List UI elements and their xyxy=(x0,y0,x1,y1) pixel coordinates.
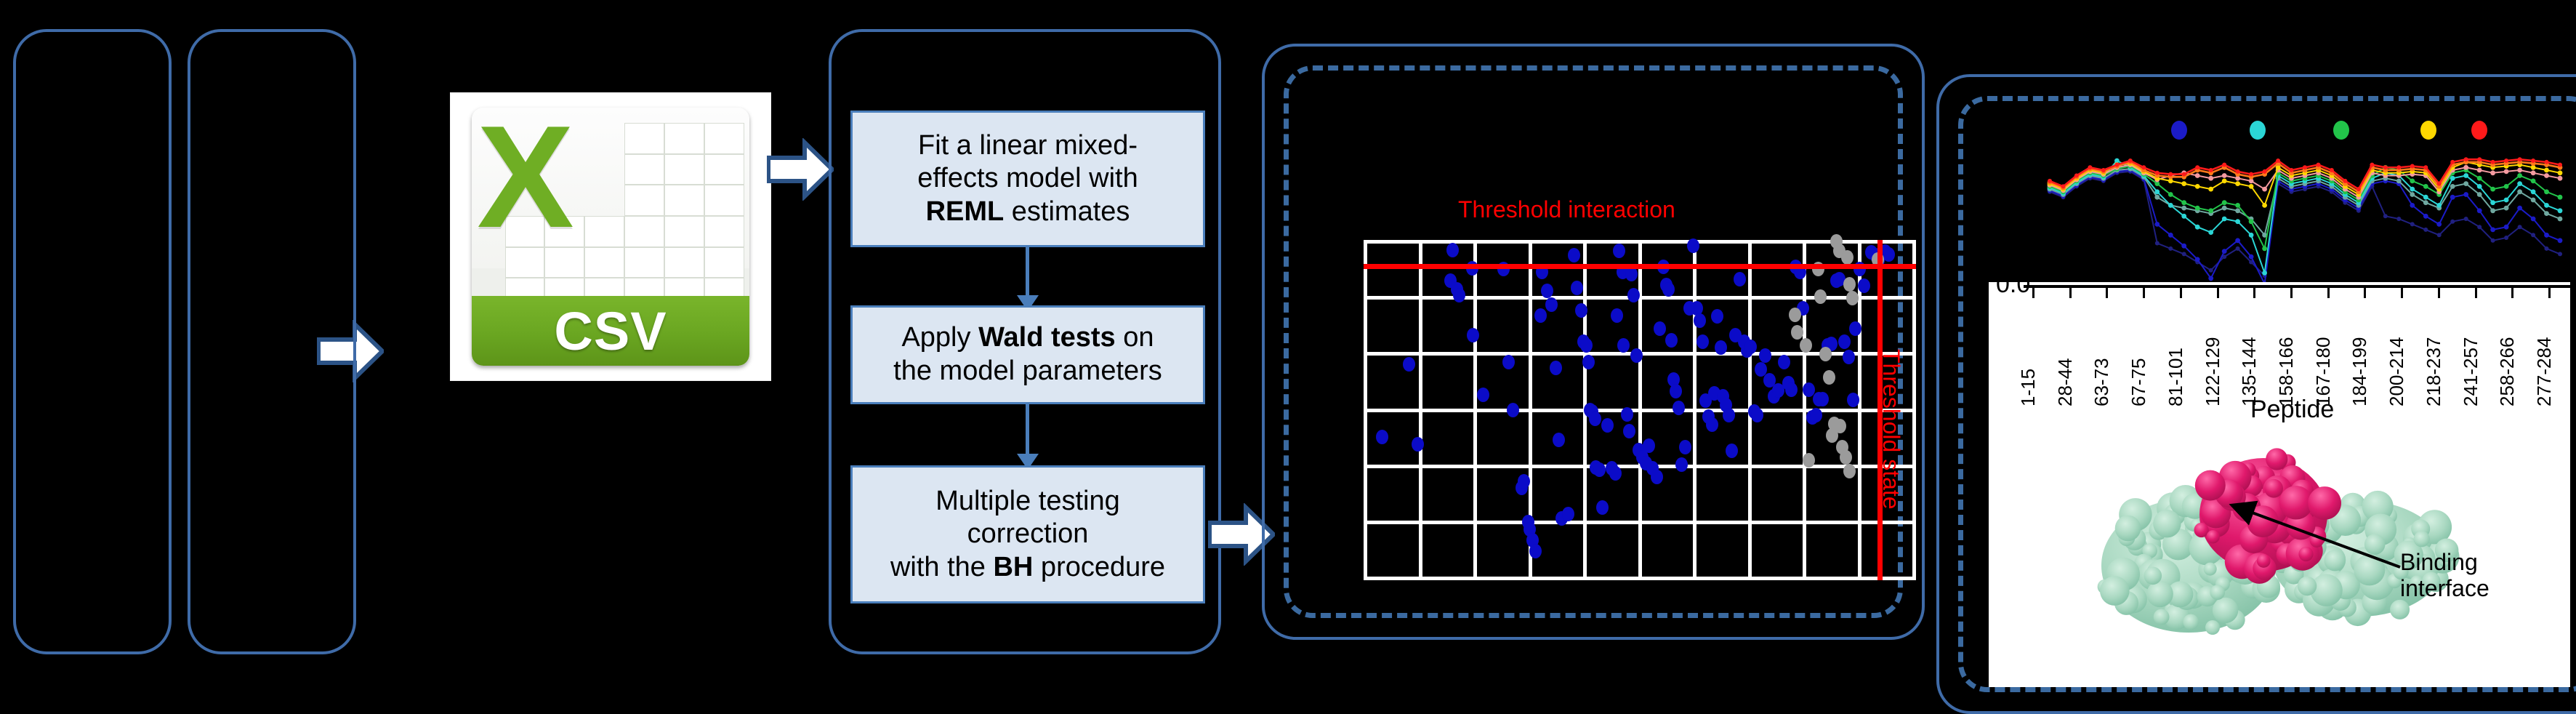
scatter-point-nonsignificant xyxy=(1819,347,1832,361)
peptide-series-marker xyxy=(2235,181,2240,186)
peptide-series-marker xyxy=(2235,203,2240,208)
peptide-series-marker xyxy=(2168,246,2173,251)
peptide-axis-tick xyxy=(2401,288,2403,298)
scatter-gridline-vertical xyxy=(1693,240,1696,580)
csv-grid-cell xyxy=(664,185,704,216)
csv-grid-cell xyxy=(624,185,664,216)
peptide-series-marker xyxy=(2195,257,2200,262)
peptide-series-marker xyxy=(2236,246,2240,251)
peptide-series-marker xyxy=(2262,246,2267,252)
scatter-point-significant xyxy=(1403,357,1415,372)
peptide-series-marker xyxy=(2410,192,2415,197)
protein-surface-blob xyxy=(2205,620,2220,635)
peptide-series-marker xyxy=(2195,225,2200,230)
csv-grid-cell xyxy=(664,154,704,185)
scatter-plot-canvas xyxy=(1364,240,1916,580)
peptide-series-marker xyxy=(2450,184,2455,189)
scatter-point-significant xyxy=(1477,388,1489,402)
scatter-gridline-vertical xyxy=(1912,240,1916,580)
scatter-point-significant xyxy=(1589,412,1601,426)
scatter-point-significant xyxy=(1734,272,1746,286)
protein-surface-blob xyxy=(2154,609,2170,625)
scatter-point-significant xyxy=(1654,321,1666,336)
peptide-series-marker xyxy=(2450,195,2455,200)
peptide-series-marker xyxy=(2222,179,2227,184)
peptide-series-marker xyxy=(2101,168,2106,172)
scatter-point-nonsignificant xyxy=(1841,250,1853,265)
peptide-series-marker xyxy=(2423,228,2428,232)
peptide-axis-tick xyxy=(2106,288,2108,298)
peptide-series-marker xyxy=(2182,172,2186,177)
protein-surface-blob xyxy=(2206,530,2219,543)
peptide-series-marker xyxy=(2463,173,2468,178)
peptide-series-marker xyxy=(2343,179,2347,183)
peptide-series-marker xyxy=(2410,222,2415,226)
peptide-series-marker xyxy=(2208,187,2213,192)
peptide-series-marker xyxy=(2437,182,2442,186)
peptide-series-marker xyxy=(2155,241,2160,246)
scatter-point-nonsignificant xyxy=(1791,325,1803,340)
scatter-point-significant xyxy=(1580,338,1593,353)
peptide-axis-tick xyxy=(2217,288,2219,298)
peptide-series-marker xyxy=(2168,192,2173,197)
protein-surface-blob xyxy=(2264,479,2283,498)
peptide-series-marker xyxy=(2490,208,2495,213)
peptide-series-marker xyxy=(2154,195,2160,200)
scatter-point-significant xyxy=(1810,408,1822,422)
peptide-series-marker xyxy=(2423,165,2428,169)
peptide-series-marker xyxy=(2504,206,2509,211)
peptide-series-marker xyxy=(2544,203,2549,208)
peptide-series-marker xyxy=(2290,168,2294,172)
peptide-tick-label: 122-129 xyxy=(2202,337,2224,406)
csv-file-icon: X CSV xyxy=(451,93,770,380)
peptide-series-marker xyxy=(2168,172,2173,177)
peptide-series-marker xyxy=(2168,233,2173,238)
flowchart-step-bh-correction[interactable]: Multiple testingcorrectionwith the BH pr… xyxy=(850,465,1205,603)
scatter-point-significant xyxy=(1665,333,1678,348)
peptide-series-marker xyxy=(2491,238,2495,243)
peptide-series-marker xyxy=(2195,206,2200,211)
scatter-point-significant xyxy=(1453,288,1465,302)
peptide-series-marker xyxy=(2558,163,2562,167)
scatter-point-significant xyxy=(1611,308,1623,323)
peptide-series-marker xyxy=(2504,236,2508,240)
peptide-series-marker xyxy=(2396,179,2402,184)
scatter-point-significant xyxy=(1778,355,1790,369)
peptide-axis-tick xyxy=(2253,288,2255,298)
peptide-series-marker xyxy=(2154,189,2160,194)
scatter-point-significant xyxy=(1617,338,1630,353)
legend-dot-2 xyxy=(2250,121,2266,140)
peptide-series-marker xyxy=(2208,276,2213,281)
scatter-point-nonsignificant xyxy=(1843,277,1856,292)
protein-surface-blob xyxy=(2100,576,2130,606)
peptide-series-marker xyxy=(2410,164,2415,169)
scatter-point-significant xyxy=(1593,462,1606,477)
csv-panel xyxy=(188,29,356,654)
csv-grid-cell xyxy=(704,247,744,278)
peptide-series-marker xyxy=(2249,219,2254,224)
csv-grid-cell xyxy=(624,247,664,278)
csv-grid-cell xyxy=(704,123,744,154)
peptide-series-marker xyxy=(2208,208,2213,213)
scatter-point-significant xyxy=(1883,247,1895,262)
scatter-point-significant xyxy=(1562,507,1574,521)
peptide-series-marker xyxy=(2181,244,2186,249)
peptide-series-marker xyxy=(2181,214,2186,219)
peptide-series-marker xyxy=(2317,163,2321,167)
scatter-point-nonsignificant xyxy=(1834,419,1846,433)
peptide-series-marker xyxy=(2517,206,2522,211)
peptide-series-marker xyxy=(2531,179,2536,184)
peptide-tick-label: 67-75 xyxy=(2128,358,2150,407)
scatter-point-significant xyxy=(1507,403,1519,417)
binding-interface-label-line1: Binding xyxy=(2400,550,2490,576)
flow-arrow-2 xyxy=(767,138,834,201)
peptide-axis-tick xyxy=(2548,288,2551,298)
scatter-point-significant xyxy=(1601,418,1614,433)
peptide-series-marker xyxy=(2477,176,2482,181)
scatter-point-significant xyxy=(1785,382,1798,397)
protein-surface-blob xyxy=(2115,516,2141,542)
scatter-point-significant xyxy=(1723,408,1735,422)
peptide-series-marker xyxy=(2155,171,2160,175)
peptide-series-marker xyxy=(2356,187,2361,191)
peptide-series-marker xyxy=(2195,173,2200,178)
protein-surface-blob xyxy=(2266,448,2287,470)
scatter-point-significant xyxy=(1625,267,1638,281)
peptide-series-marker xyxy=(2436,203,2442,208)
peptide-series-marker xyxy=(2209,168,2213,172)
legend-dot-1 xyxy=(2171,121,2187,140)
scatter-point-significant xyxy=(1849,321,1861,336)
protein-surface-blob xyxy=(2390,600,2410,619)
scatter-point-significant xyxy=(1623,424,1635,438)
scatter-point-significant xyxy=(1847,393,1859,407)
csv-grid-cell xyxy=(704,185,744,216)
peptide-series-marker xyxy=(2410,203,2415,208)
peptide-series-marker xyxy=(2531,198,2536,203)
peptide-series-marker xyxy=(2262,270,2267,276)
scatter-point-significant xyxy=(1843,350,1855,364)
peptide-series-marker xyxy=(2504,184,2509,189)
scatter-point-significant xyxy=(1529,544,1542,558)
peptide-series-marker xyxy=(2088,165,2092,169)
scatter-point-significant xyxy=(1726,444,1738,458)
protein-surface-blob xyxy=(2146,581,2173,607)
scatter-point-significant xyxy=(1696,334,1709,349)
scatter-point-significant xyxy=(1673,401,1685,415)
scatter-point-significant xyxy=(1376,430,1388,444)
peptide-series-marker xyxy=(2235,238,2240,243)
peptide-tick-label: 1-15 xyxy=(2017,369,2040,406)
peptide-series-marker xyxy=(2477,184,2482,189)
peptide-series-marker xyxy=(2490,187,2495,192)
peptide-axis-tick xyxy=(2143,288,2145,298)
peptide-series-marker xyxy=(2235,219,2240,224)
peptide-series-marker xyxy=(2544,233,2549,238)
peptide-series-marker xyxy=(2330,168,2334,172)
peptide-series-marker xyxy=(2074,174,2079,178)
peptide-series-marker xyxy=(2262,187,2267,192)
peptide-series-marker xyxy=(2558,176,2563,181)
scatter-point-significant xyxy=(1446,243,1459,257)
scatter-point-significant xyxy=(1759,348,1771,363)
peptide-line-chart-svg xyxy=(2021,145,2573,291)
peptide-series-marker xyxy=(2423,214,2428,219)
peptide-series-marker xyxy=(2262,203,2267,208)
scatter-point-significant xyxy=(1534,308,1547,323)
peptide-series-marker xyxy=(2463,181,2468,186)
peptide-series-marker xyxy=(2249,233,2254,238)
scatter-point-significant xyxy=(1643,438,1655,453)
binding-interface-arrow xyxy=(2220,497,2409,577)
csv-grid-cell xyxy=(704,154,744,185)
protein-surface-blob xyxy=(2298,577,2317,595)
legend-dot-5 xyxy=(2471,121,2487,140)
scatter-point-significant xyxy=(1518,474,1530,489)
peptide-axis-tick xyxy=(2180,288,2182,298)
scatter-point-nonsignificant xyxy=(1846,291,1859,305)
peptide-tick-label: 63-73 xyxy=(2090,358,2113,407)
peptide-series-marker xyxy=(2464,217,2468,221)
peptide-series-marker xyxy=(2531,159,2535,163)
scatter-point-nonsignificant xyxy=(1823,370,1835,385)
scatter-point-significant xyxy=(1582,355,1595,369)
peptide-series-marker xyxy=(2128,159,2133,163)
threshold-interaction-line xyxy=(1364,264,1916,269)
peptide-tick-label: 81-101 xyxy=(2165,348,2187,406)
peptide-series-marker xyxy=(2544,173,2549,178)
scatter-gridline-vertical xyxy=(1803,240,1806,580)
input-panel xyxy=(13,29,172,654)
peptide-series-marker xyxy=(2222,173,2227,178)
peptide-series-marker xyxy=(2263,169,2267,174)
peptide-series-marker xyxy=(2544,211,2549,216)
scatter-point-significant xyxy=(1679,440,1691,454)
peptide-tick-label: 200-214 xyxy=(2386,337,2408,406)
peptide-tick-label: 28-44 xyxy=(2054,358,2077,407)
peptide-series-marker xyxy=(2222,163,2226,167)
scatter-point-nonsignificant xyxy=(1843,464,1856,478)
peptide-axis-tick xyxy=(2327,288,2330,298)
peptide-series-marker xyxy=(2463,192,2468,197)
peptide-y-axis-first-tick: 0.0 xyxy=(1996,270,2030,299)
binding-interface-label-line2: interface xyxy=(2400,576,2490,602)
peptide-series-marker xyxy=(2154,222,2160,227)
peptide-series-marker xyxy=(2477,168,2482,173)
peptide-series-marker xyxy=(2490,170,2495,175)
scatter-point-significant xyxy=(1751,408,1763,422)
scatter-point-significant xyxy=(1502,355,1515,369)
excel-x-glyph: X xyxy=(477,118,605,278)
peptide-series-marker xyxy=(2410,187,2415,192)
csv-grid-cell xyxy=(704,216,744,247)
peptide-series-marker xyxy=(2423,200,2428,205)
peptide-series-marker xyxy=(2545,160,2549,164)
peptide-series-marker xyxy=(2436,222,2442,227)
peptide-series-marker xyxy=(2544,189,2549,194)
peptide-series-marker xyxy=(2450,160,2455,164)
peptide-series-marker xyxy=(2048,179,2052,183)
protein-surface-blob xyxy=(2210,585,2225,600)
peptide-series-marker xyxy=(2531,189,2536,194)
protein-surface-blob xyxy=(2414,531,2430,547)
peptide-series-marker xyxy=(2383,214,2388,218)
binding-interface-label: Binding interface xyxy=(2400,550,2490,602)
scatter-point-significant xyxy=(1706,417,1718,432)
peptide-series-marker xyxy=(2531,170,2536,175)
flowchart-step-fit-model-text: Fit a linear mixed-effects model withREM… xyxy=(917,129,1138,229)
peptide-series-marker xyxy=(2490,200,2495,205)
scatter-point-significant xyxy=(1571,281,1583,295)
scatter-point-significant xyxy=(1651,470,1663,484)
csv-grid-cell xyxy=(664,216,704,247)
peptide-series-marker xyxy=(2182,252,2186,256)
peptide-series-marker xyxy=(2423,195,2428,200)
scatter-point-significant xyxy=(1627,288,1640,302)
peptide-series-marker xyxy=(2235,208,2240,213)
peptide-series-marker xyxy=(2450,220,2455,224)
scatter-point-significant xyxy=(1621,407,1633,422)
peptide-series-marker xyxy=(2410,179,2415,184)
scatter-point-nonsignificant xyxy=(1840,450,1852,465)
peptide-series-marker xyxy=(2545,246,2549,251)
peptide-series-marker xyxy=(2558,208,2563,213)
csv-grid-cell xyxy=(664,247,704,278)
scatter-point-significant xyxy=(1568,248,1580,262)
scatter-point-significant xyxy=(1613,244,1625,258)
scatter-point-significant xyxy=(1711,309,1723,324)
peptide-series-marker xyxy=(2517,173,2522,178)
peptide-series-marker xyxy=(2518,157,2522,161)
protein-surface-blob xyxy=(2204,563,2217,576)
legend-dot-3 xyxy=(2333,121,2349,140)
peptide-axis-tick xyxy=(2290,288,2293,298)
peptide-series-marker xyxy=(2195,184,2200,189)
scatter-point-significant xyxy=(1596,500,1609,515)
csv-label: CSV xyxy=(554,300,667,362)
peptide-series-marker xyxy=(2396,165,2401,169)
peptide-series-marker xyxy=(2544,168,2549,173)
peptide-series-marker xyxy=(2168,203,2173,208)
peptide-series-marker xyxy=(2504,225,2509,230)
csv-grid-cell xyxy=(624,216,664,247)
threshold-state-label: Threshold state xyxy=(1877,349,1904,510)
flowchart-step-wald-tests-text: Apply Wald tests onthe model parameters xyxy=(893,321,1162,388)
scatter-point-significant xyxy=(1630,348,1643,363)
scatter-plot-area[interactable] xyxy=(1364,240,1916,580)
peptide-axis-tick xyxy=(2511,288,2513,298)
scatter-point-nonsignificant xyxy=(1803,453,1815,468)
csv-grid-cell xyxy=(624,154,664,185)
peptide-series-marker xyxy=(2558,170,2563,175)
legend-dot-4 xyxy=(2420,121,2436,140)
peptide-series-marker xyxy=(2141,165,2146,169)
peptide-series-marker xyxy=(2477,225,2482,229)
protein-surface-blob xyxy=(2144,567,2162,585)
peptide-series-marker xyxy=(2517,168,2522,173)
peptide-series-marker xyxy=(2396,217,2401,221)
scatter-gridline-vertical xyxy=(1473,240,1477,580)
peptide-series-marker xyxy=(2222,200,2227,205)
peptide-series-marker xyxy=(2209,268,2213,273)
peptide-series-marker xyxy=(2518,225,2522,229)
scatter-gridline-vertical xyxy=(1364,240,1367,580)
peptide-series-marker xyxy=(2195,165,2199,169)
peptide-series-marker xyxy=(2558,238,2563,243)
csv-grid-cell xyxy=(664,123,704,154)
protein-surface-blob xyxy=(2213,598,2238,623)
flow-connector-1 xyxy=(1026,247,1029,297)
scatter-point-significant xyxy=(1545,297,1558,312)
scatter-point-significant xyxy=(1467,328,1479,342)
peptide-series-marker xyxy=(2464,157,2468,161)
scatter-point-significant xyxy=(1550,361,1562,375)
peptide-series-marker xyxy=(2249,172,2253,177)
scatter-point-significant xyxy=(1715,340,1727,355)
peptide-series-marker xyxy=(2558,195,2563,200)
flow-connector-2 xyxy=(1026,404,1029,455)
protein-surface-blob xyxy=(2183,614,2199,630)
peptide-series-marker xyxy=(2504,198,2509,203)
peptide-series-marker xyxy=(2222,217,2227,222)
peptide-series-marker xyxy=(2249,184,2254,189)
csv-band: CSV xyxy=(472,296,750,366)
scatter-gridline-vertical xyxy=(1419,240,1422,580)
scatter-point-significant xyxy=(1858,278,1870,293)
protein-surface-blob xyxy=(2153,510,2181,537)
peptide-axis-tick xyxy=(2069,288,2072,298)
peptide-series-marker xyxy=(2558,217,2563,222)
peptide-series-marker xyxy=(2531,233,2535,237)
protein-surface-blob xyxy=(2195,470,2226,501)
peptide-line-chart[interactable] xyxy=(2021,145,2573,291)
scatter-point-significant xyxy=(1609,466,1622,481)
peptide-series-marker xyxy=(2504,169,2509,175)
peptide-series-marker xyxy=(2061,184,2066,188)
scatter-point-significant xyxy=(1553,433,1565,447)
peptide-series-marker xyxy=(2463,165,2468,170)
peptide-series-marker xyxy=(2477,208,2482,213)
peptide-axis-tick xyxy=(2032,288,2034,298)
peptide-tick-label: 241-257 xyxy=(2460,337,2482,406)
peptide-series-marker xyxy=(2114,163,2119,167)
peptide-axis-tick xyxy=(2438,288,2440,298)
peptide-series-marker xyxy=(2303,165,2307,169)
peptide-axis-tick xyxy=(2364,288,2366,298)
peptide-series-marker xyxy=(2491,160,2495,164)
peptide-inset-panel: 1-1528-4463-7367-7581-101122-129135-1441… xyxy=(1989,282,2570,687)
threshold-interaction-label: Threshold interaction xyxy=(1458,196,1675,223)
peptide-tick-label: 184-199 xyxy=(2348,337,2371,406)
scatter-point-nonsignificant xyxy=(1814,289,1827,304)
flowchart-step-fit-model[interactable]: Fit a linear mixed-effects model withREM… xyxy=(850,111,1205,247)
csv-card: X CSV xyxy=(472,108,750,366)
scatter-point-significant xyxy=(1694,313,1706,328)
peptide-series-marker xyxy=(2181,200,2186,205)
scatter-point-significant xyxy=(1838,334,1851,349)
peptide-series-marker xyxy=(2490,228,2495,233)
scatter-point-significant xyxy=(1675,457,1688,472)
peptide-tick-label: 258-266 xyxy=(2496,337,2519,406)
peptide-series-marker xyxy=(2531,217,2536,222)
peptide-series-marker xyxy=(2477,157,2482,161)
flowchart-step-wald-tests[interactable]: Apply Wald tests onthe model parameters xyxy=(850,305,1205,404)
scatter-point-significant xyxy=(1687,238,1699,253)
peptide-series-marker xyxy=(2558,252,2562,256)
